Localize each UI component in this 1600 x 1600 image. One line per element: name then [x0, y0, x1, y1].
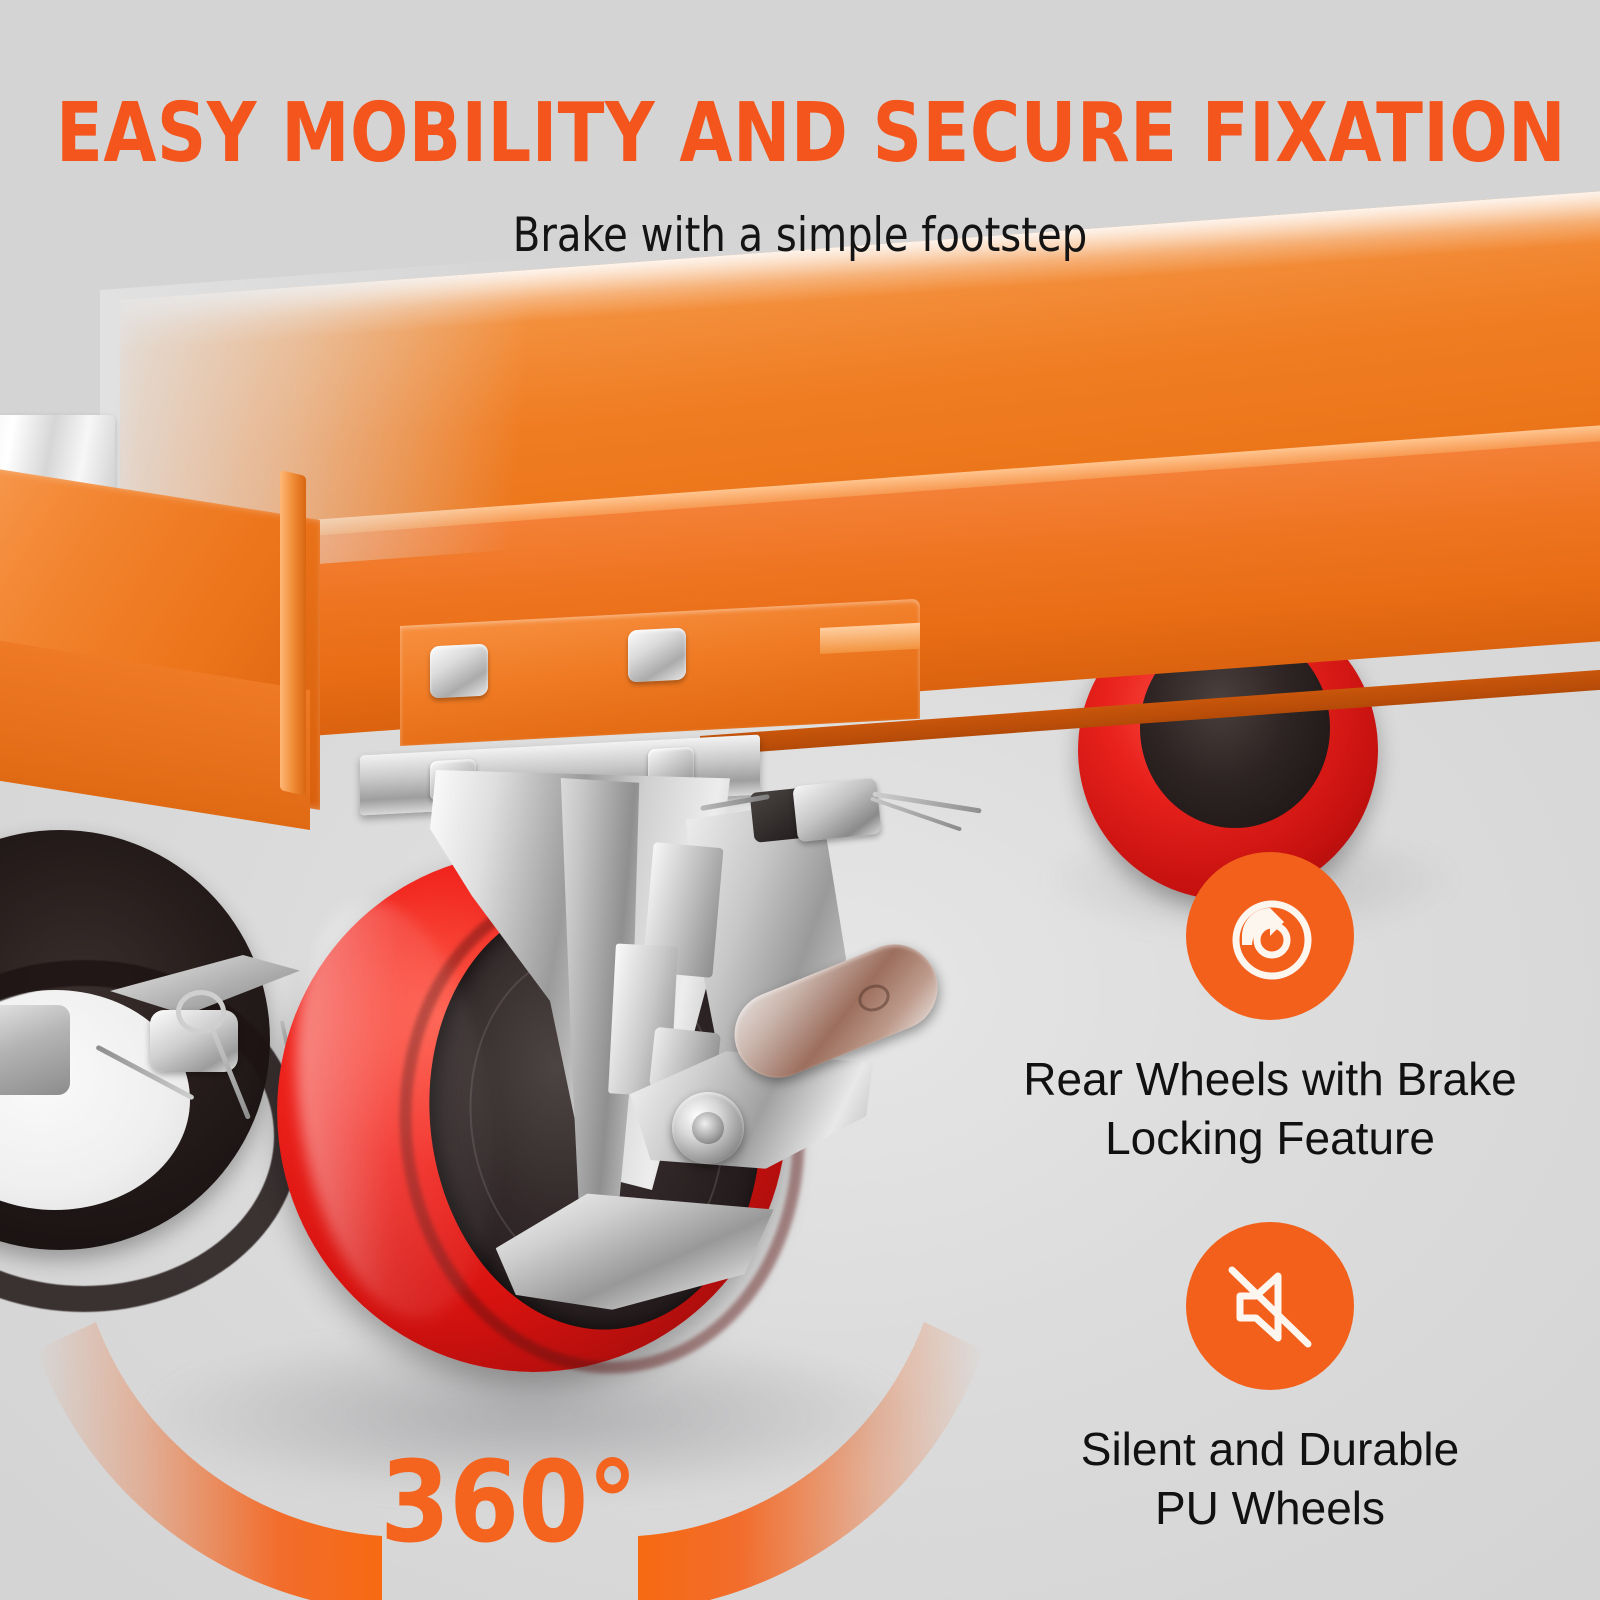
curved-arrow-left-icon — [36, 1322, 382, 1600]
swivel-degree-label: 360° — [380, 1447, 637, 1559]
feature-line: Silent and Durable — [960, 1420, 1580, 1479]
caster-mount-bracket-edge — [820, 623, 920, 654]
brake-disc-icon — [1186, 852, 1354, 1020]
page-title: EASY MOBILITY AND SECURE FIXATION — [56, 93, 1544, 175]
axle-nut — [792, 778, 881, 842]
page-subtitle: Brake with a simple footstep — [40, 212, 1560, 259]
secondary-wheel-hub — [0, 1005, 70, 1095]
feature-brake-locking: Rear Wheels with Brake Locking Feature — [960, 852, 1580, 1168]
brake-lever-pivot-pin — [692, 1112, 724, 1144]
hex-bolt-left — [430, 643, 488, 698]
feature-line: Rear Wheels with Brake — [960, 1050, 1580, 1109]
curved-arrow-right-icon — [638, 1322, 984, 1600]
secondary-cotter-ring — [176, 990, 226, 1034]
feature-silent-pu-wheels: Silent and Durable PU Wheels — [960, 1222, 1580, 1538]
hex-bolt-right — [628, 627, 686, 682]
feature-line: Locking Feature — [960, 1109, 1580, 1168]
feature-silent-pu-wheels-text: Silent and Durable PU Wheels — [960, 1420, 1580, 1538]
feature-brake-locking-text: Rear Wheels with Brake Locking Feature — [960, 1050, 1580, 1168]
feature-line: PU Wheels — [960, 1479, 1580, 1538]
product-feature-banner: EASY MOBILITY AND SECURE FIXATION Brake … — [0, 0, 1600, 1600]
speaker-muted-icon — [1186, 1222, 1354, 1390]
frame-end-cap-edge — [280, 470, 306, 796]
